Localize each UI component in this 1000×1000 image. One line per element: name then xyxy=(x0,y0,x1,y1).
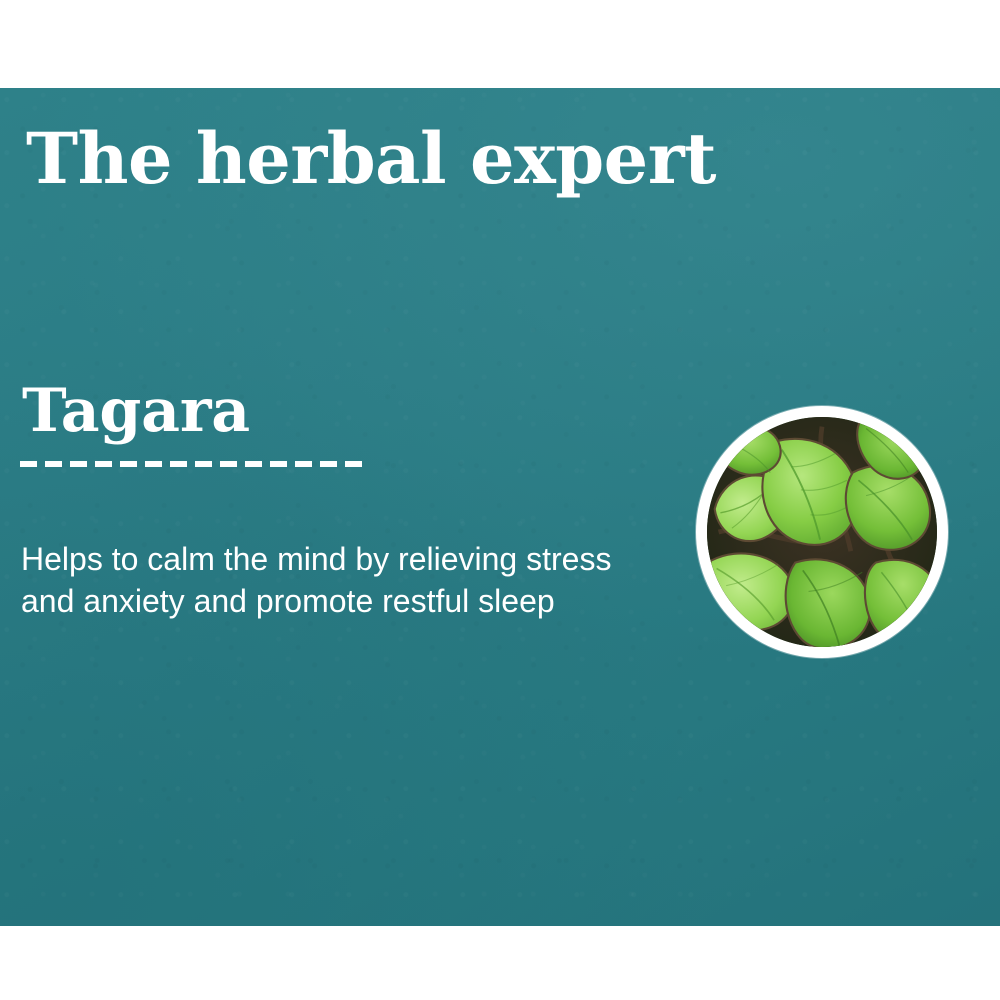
herb-description: Helps to calm the mind by relieving stre… xyxy=(21,538,671,622)
page-title: The herbal expert xyxy=(26,124,716,194)
tagara-leaves-photo xyxy=(696,406,948,658)
herb-description-line-2: and anxiety and promote restful sleep xyxy=(21,580,671,622)
herb-name-heading: Tagara xyxy=(22,381,250,441)
dashed-divider xyxy=(20,461,365,467)
herb-description-line-1: Helps to calm the mind by relieving stre… xyxy=(21,538,671,580)
herbal-expert-card: The herbal expert Tagara Helps to calm t… xyxy=(0,0,1000,1000)
